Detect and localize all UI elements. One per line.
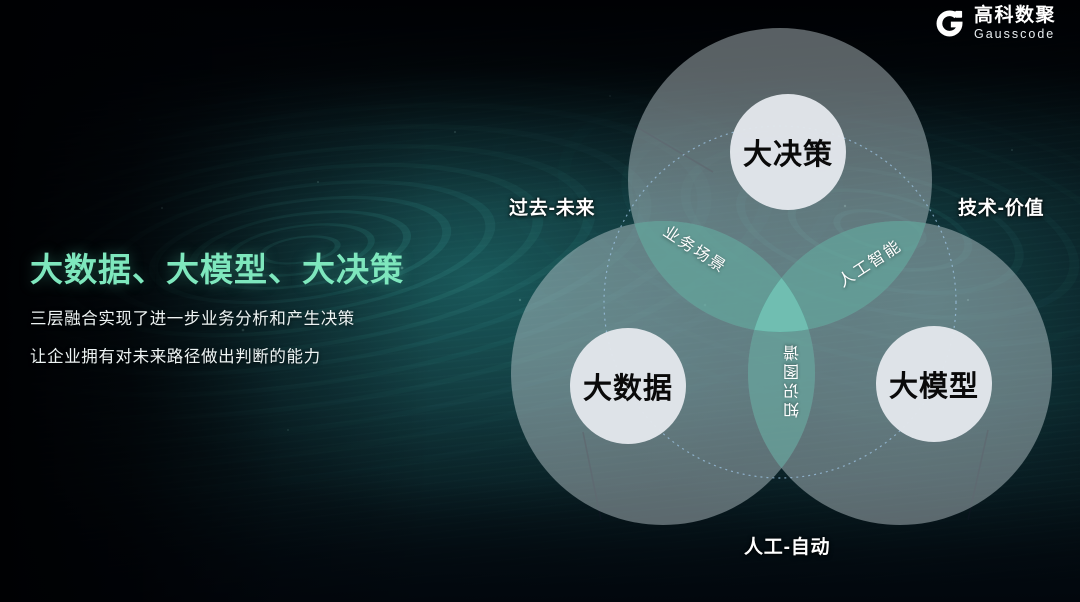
subtitle-line-1: 三层融合实现了进一步业务分析和产生决策 bbox=[30, 308, 470, 330]
gausscode-g-mark-icon bbox=[934, 8, 965, 39]
axis-label-tech-value: 技术-价值 bbox=[958, 193, 1044, 220]
slide-copy: 大数据、大模型、大决策 三层融合实现了进一步业务分析和产生决策 让企业拥有对未来… bbox=[30, 250, 470, 368]
core-label-bigdata: 大数据 bbox=[583, 365, 673, 407]
subtitle-line-2: 让企业拥有对未来路径做出判断的能力 bbox=[30, 346, 470, 368]
brand-logo: 高科数聚 Gausscode bbox=[934, 6, 1056, 41]
core-label-decision: 大决策 bbox=[743, 131, 833, 173]
logo-name-en: Gausscode bbox=[974, 28, 1056, 41]
logo-wordmark: 高科数聚 Gausscode bbox=[974, 6, 1056, 41]
logo-name-cn: 高科数聚 bbox=[974, 6, 1056, 25]
axis-label-past-future: 过去-未来 bbox=[509, 193, 595, 220]
slide-canvas: 大决策 大数据 大模型 业务场景 人工智能 知识图谱 过去-未来 技术-价值 人… bbox=[0, 0, 1080, 602]
intersection-label-knowledge-graph: 知识图谱 bbox=[782, 342, 806, 418]
axis-label-manual-auto: 人工-自动 bbox=[744, 532, 830, 559]
core-label-bigmodel: 大模型 bbox=[889, 363, 979, 405]
page-title: 大数据、大模型、大决策 bbox=[30, 250, 470, 290]
